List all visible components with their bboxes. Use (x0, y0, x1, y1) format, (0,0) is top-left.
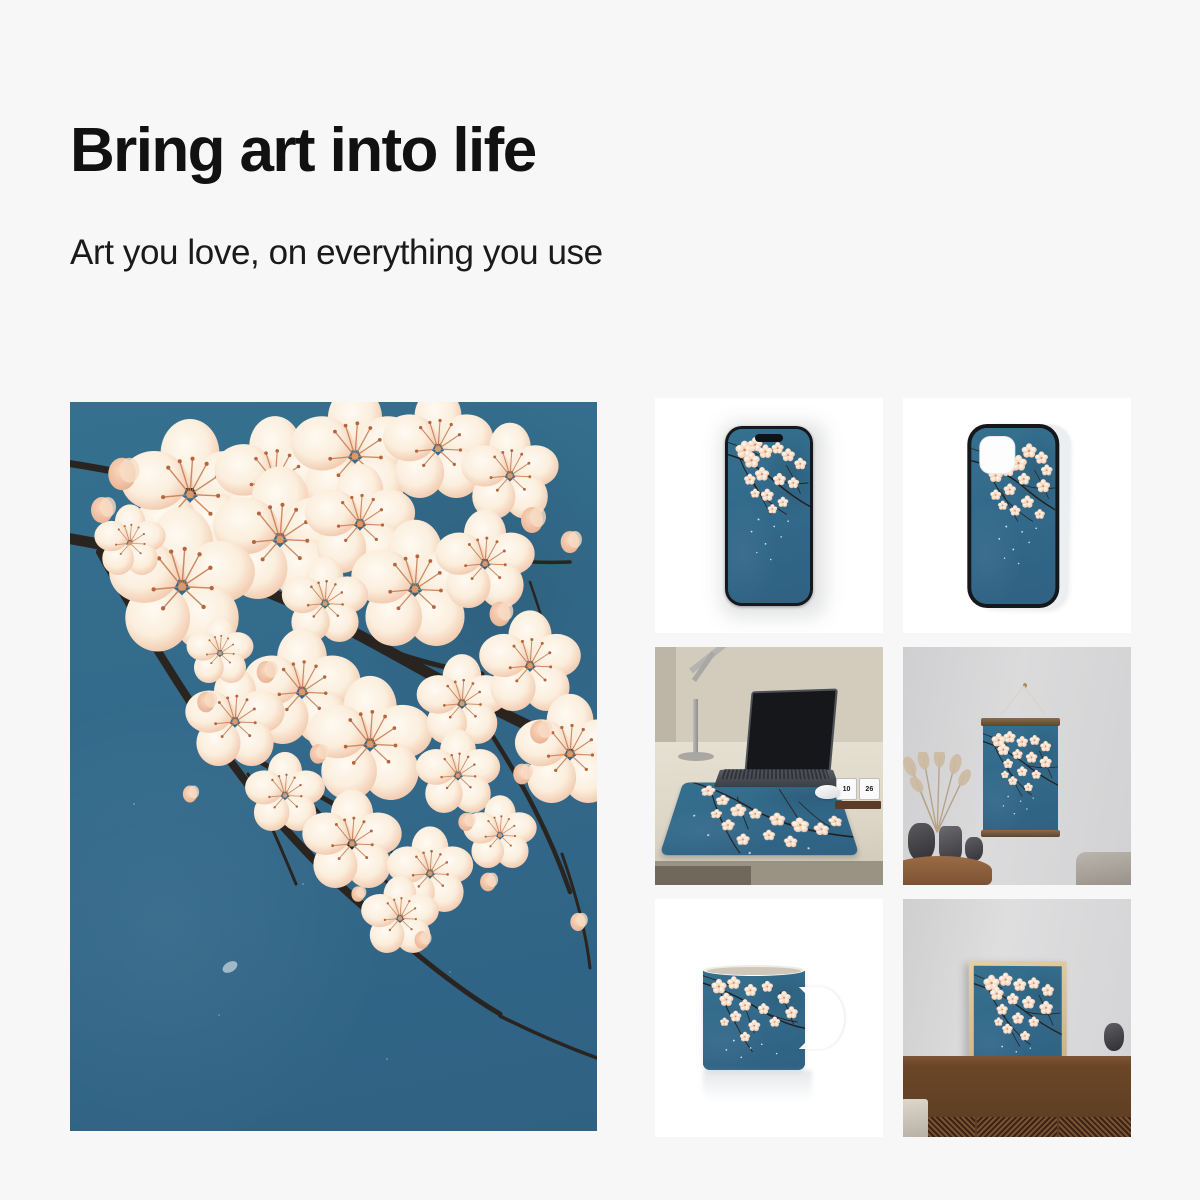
armchair (903, 1099, 928, 1137)
pampas-grass (903, 752, 971, 833)
desk-lamp-stem (693, 699, 699, 756)
hanging-canvas (983, 723, 1058, 833)
mug-scene (655, 899, 883, 1137)
phone-case (967, 424, 1059, 608)
mockup-tile-phone-case[interactable] (903, 398, 1131, 633)
laptop-keyboard (722, 769, 830, 779)
mockup-tile-framed-poster[interactable] (903, 899, 1131, 1137)
wall-hanging-scene (903, 647, 1131, 885)
mockup-tile-mug[interactable] (655, 899, 883, 1137)
dynamic-island-icon (755, 434, 783, 442)
calendar-day: 26 (859, 778, 880, 800)
mockup-tile-desk-mat[interactable]: 10 26 (655, 647, 883, 885)
desk-scene: 10 26 (655, 647, 883, 885)
hanging-canvas-assembly (983, 718, 1058, 837)
canvas-rail-bottom (981, 830, 1061, 837)
desk-shadow-underside (655, 866, 751, 885)
mockup-tile-wall-hanging[interactable] (903, 647, 1131, 885)
mug-body (703, 968, 806, 1070)
mug-interior (707, 967, 800, 975)
phone-screen (728, 429, 810, 603)
mockup-tile-phone[interactable] (655, 398, 883, 633)
canvas-rail-top (981, 718, 1061, 725)
main-artwork-preview[interactable] (70, 402, 597, 1131)
artwork-cherry-blossom (70, 402, 597, 1131)
vase-decor (1104, 1023, 1125, 1052)
mug-reflection (703, 1070, 812, 1101)
sofa (1076, 852, 1131, 885)
computer-mouse (815, 785, 840, 799)
artwork-on-hanging-canvas (983, 723, 1058, 833)
side-table (903, 856, 992, 885)
page-subtitle: Art you love, on everything you use (70, 232, 603, 274)
sideboard-door (1059, 1117, 1131, 1137)
camera-cutout-icon (979, 436, 1015, 474)
artwork-svg-hanging (983, 723, 1058, 833)
texture-speck (302, 883, 304, 885)
framed-poster-scene (903, 899, 1131, 1137)
sideboard-door (977, 1117, 1056, 1137)
promo-page: Bring art into life Art you love, on eve… (0, 0, 1200, 1200)
sideboard-doors (903, 1117, 1131, 1137)
artwork-on-phone (728, 429, 810, 603)
laptop-screen (744, 688, 837, 777)
mug-handle (799, 987, 845, 1049)
product-mockup-grid: 10 26 (655, 398, 1131, 1131)
sideboard (903, 1056, 1131, 1137)
artwork-on-mug (703, 968, 806, 1070)
flip-calendar: 10 26 (835, 778, 881, 809)
calendar-stand (835, 801, 881, 808)
phone-case-surface (971, 428, 1055, 604)
artwork-svg-mug (703, 968, 806, 1070)
hanging-cord (994, 685, 1053, 718)
page-title: Bring art into life (70, 118, 536, 183)
phone-device (725, 426, 813, 606)
artwork-svg (70, 402, 597, 1131)
artwork-svg-phone (728, 429, 810, 603)
